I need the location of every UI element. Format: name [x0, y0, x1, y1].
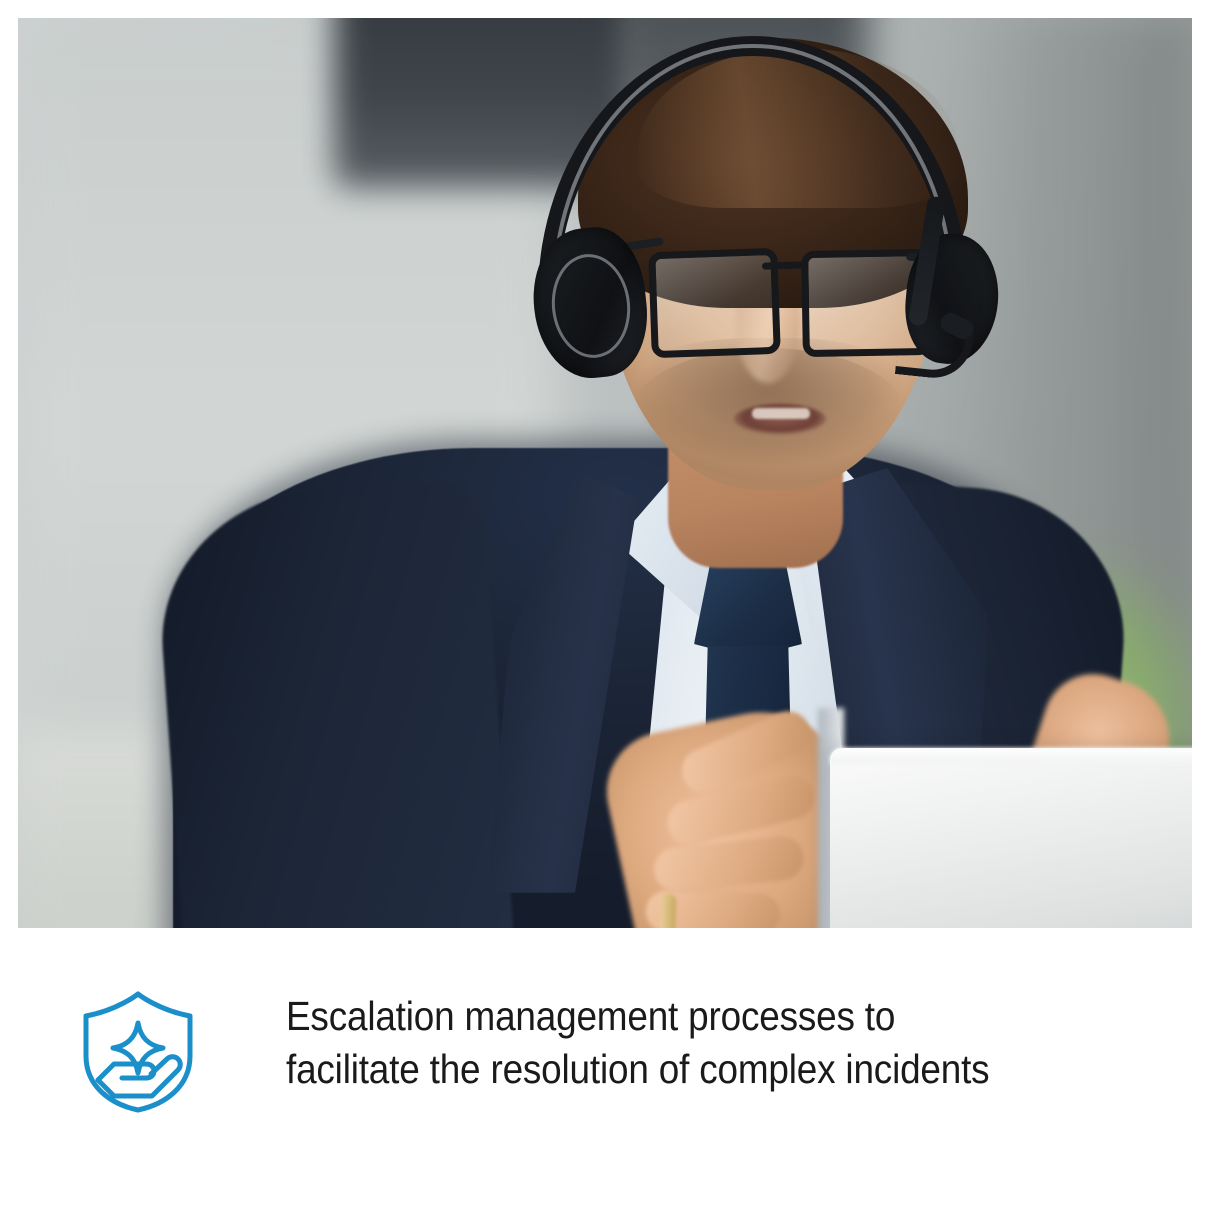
laptop-lid	[830, 748, 1192, 928]
teeth	[752, 408, 810, 419]
caption-block: Escalation management processes to facil…	[0, 928, 1214, 1214]
shield-hand-sparkle-icon	[78, 990, 198, 1114]
suit-shoulder-left	[152, 477, 513, 928]
necktie-knot	[694, 558, 802, 658]
page-root: Escalation management processes to facil…	[0, 0, 1214, 1214]
caption-inner: Escalation management processes to facil…	[78, 990, 1086, 1114]
caption-text: Escalation management processes to facil…	[286, 990, 1006, 1096]
finger-ring	[659, 894, 676, 928]
laptop-lid-top-edge	[830, 748, 1192, 764]
hero-photo	[18, 18, 1192, 928]
